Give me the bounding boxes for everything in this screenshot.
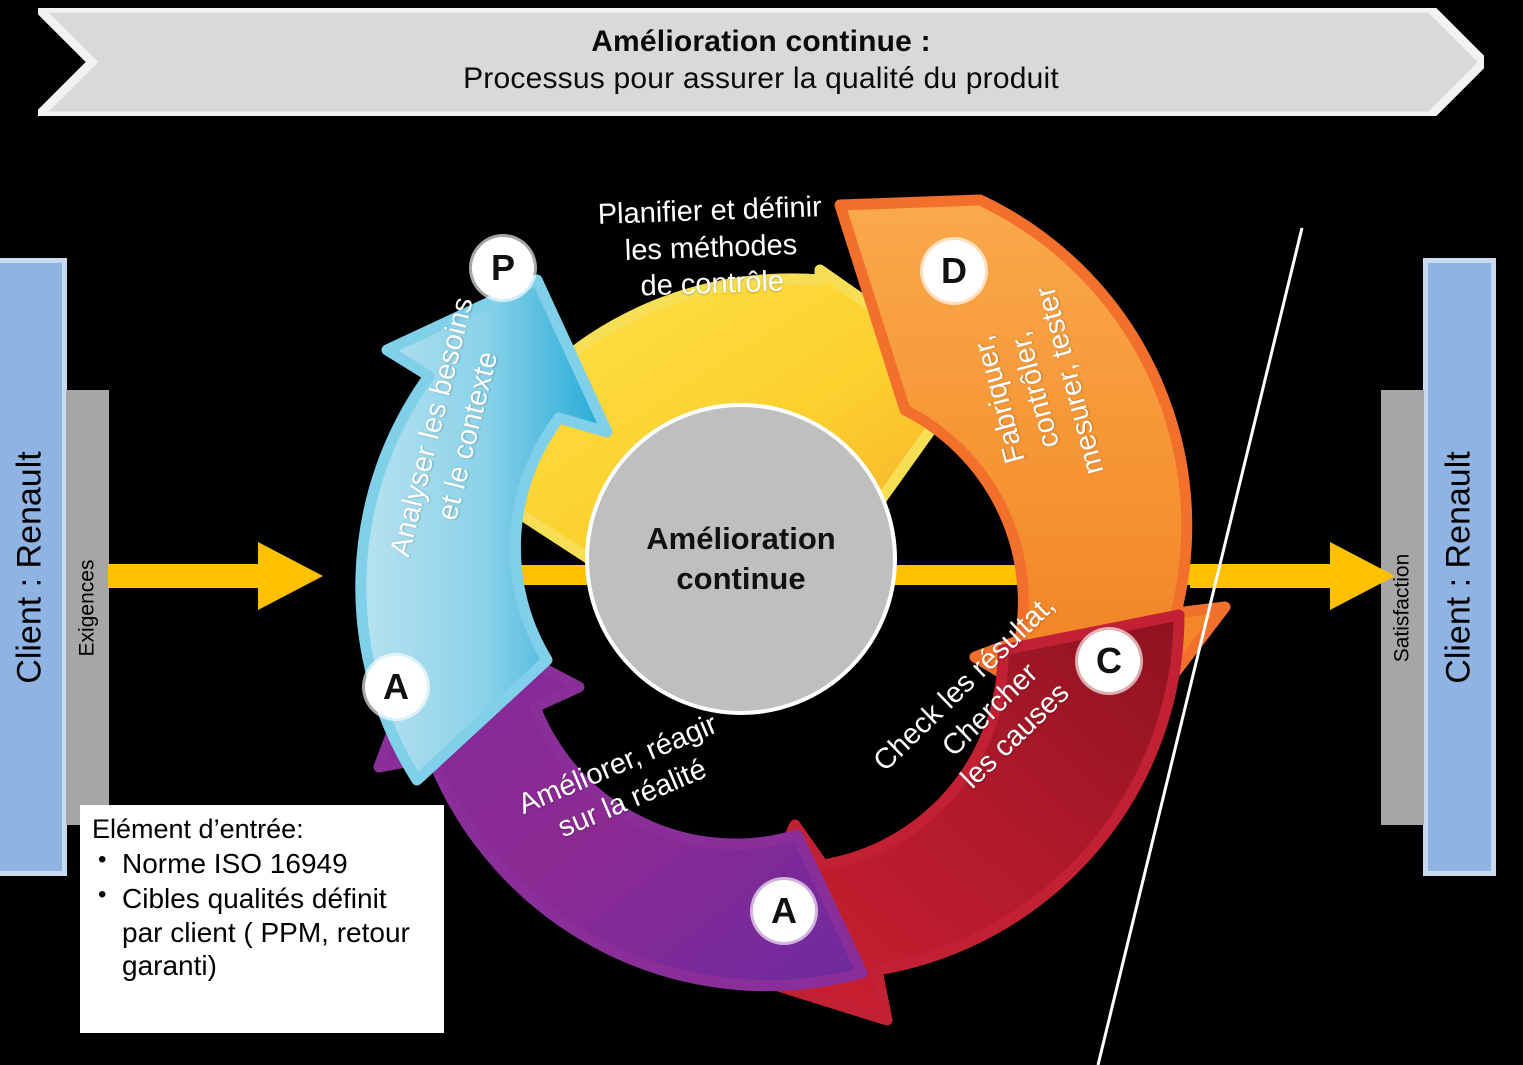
pdca-badge-check: C [1078,630,1140,692]
header-banner: Amélioration continue : Processus pour a… [38,8,1484,116]
list-item: Norme ISO 16949 [92,847,434,881]
note-list: Norme ISO 16949 Cibles qualités définit … [92,847,434,982]
list-item: Cibles qualités définit par client ( PPM… [92,882,434,983]
pdca-badge-plan: P [472,237,534,299]
client-bar-right-label: Client : Renault [1440,451,1479,683]
note-title: Elément d’entrée: [92,813,434,845]
header-banner-shape [38,8,1484,116]
diagram-canvas: Amélioration continue : Processus pour a… [0,0,1523,1065]
pdca-badge-do: D [923,240,985,302]
input-stream-bar: Exigences [66,390,109,825]
flow-arrow-output [1190,540,1395,612]
flow-arrow-input [108,540,323,612]
input-stream-label: Exigences [76,559,100,656]
client-bar-left: Client : Renault [0,258,67,876]
pdca-badge-analyse: A [365,656,427,718]
cycle-center-circle: Amélioration continue [585,403,897,715]
pdca-badge-act: A [753,880,815,942]
cycle-center-label: Amélioration continue [646,519,835,600]
input-elements-note: Elément d’entrée: Norme ISO 16949 Cibles… [80,805,444,1033]
client-bar-right: Client : Renault [1423,258,1496,876]
client-bar-left-label: Client : Renault [11,451,50,683]
